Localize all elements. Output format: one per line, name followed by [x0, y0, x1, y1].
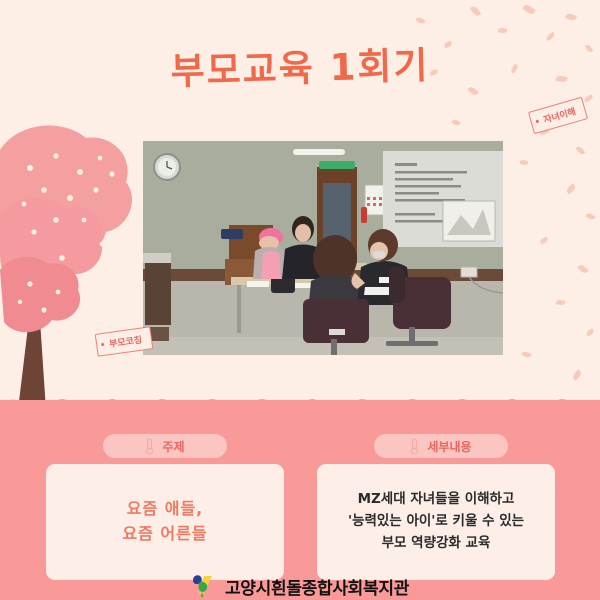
thermometer-icon	[145, 438, 154, 455]
sprout-logo-icon	[191, 574, 217, 598]
details-card: MZ세대 자녀들을 이해하고 '능력있는 아이'로 키울 수 있는 부모 역량강…	[317, 464, 555, 580]
wall-clock-graphic	[154, 154, 180, 180]
topic-card-text: 요즘 애들, 요즘 어른들	[122, 497, 207, 547]
projection-screen-graphic	[383, 151, 503, 247]
poster-root: 부모교육 1회기 자녀이해	[0, 0, 600, 600]
topic-card: 요즘 애들, 요즘 어른들	[46, 464, 284, 580]
seminar-photo	[143, 141, 503, 355]
wave-divider	[0, 392, 600, 422]
section-header-topic-label: 주제	[162, 438, 184, 455]
details-card-text: MZ세대 자녀들을 이해하고 '능력있는 아이'로 키울 수 있는 부모 역량강…	[348, 489, 524, 555]
thermometer-icon	[410, 438, 419, 455]
section-header-topic: 주제	[103, 434, 227, 458]
organization-name: 고양시흰돌종합사회복지관	[225, 574, 409, 599]
footer: 고양시흰돌종합사회복지관	[0, 572, 600, 600]
section-header-details: 세부내용	[374, 434, 508, 458]
cherry-blossom-tree	[0, 120, 160, 410]
section-header-details-label: 세부내용	[427, 438, 471, 455]
